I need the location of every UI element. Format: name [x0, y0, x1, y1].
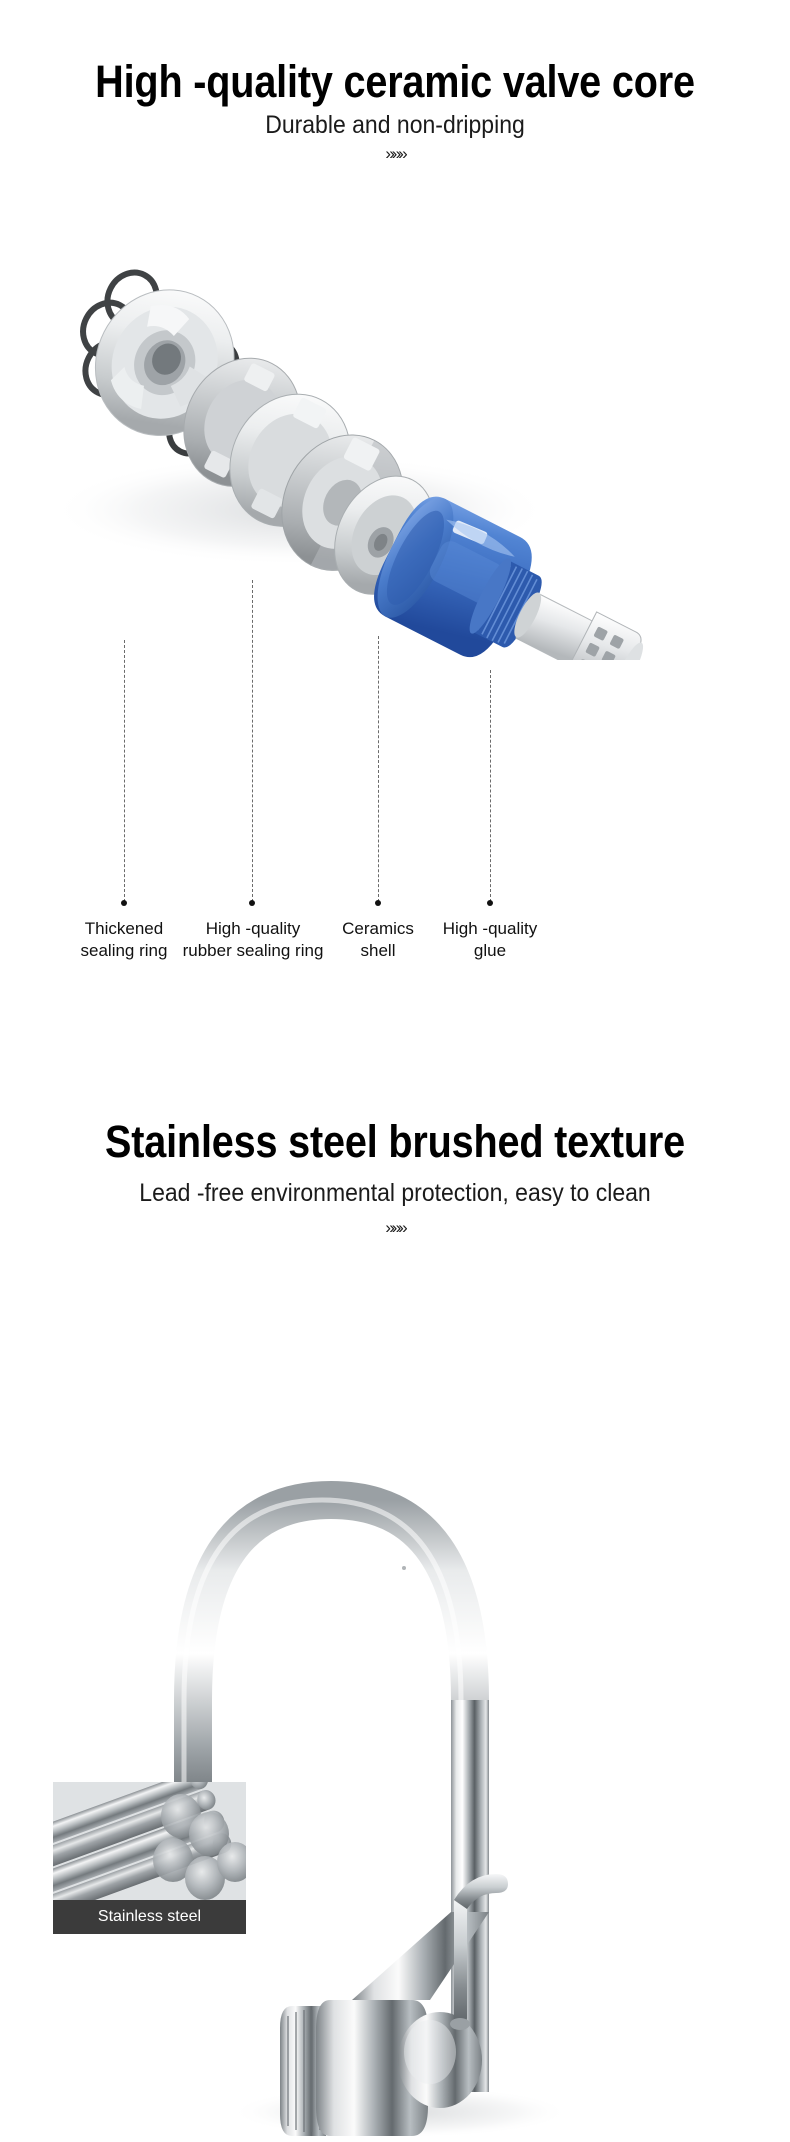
spout-seam-mark — [402, 1566, 406, 1570]
callout-line-1: High -quality — [162, 918, 344, 940]
leader-line-2 — [252, 580, 253, 902]
callout-line-2: rubber sealing ring — [162, 940, 344, 962]
leader-line-1 — [124, 640, 125, 902]
callout-label-rubber-sealing-ring: High -quality rubber sealing ring — [162, 918, 344, 962]
leader-line-4 — [490, 670, 491, 902]
inset-caption-stainless-steel: Stainless steel — [53, 1900, 246, 1934]
page-title-stainless-steel: Stainless steel brushed texture — [47, 1118, 742, 1165]
product-detail-page: High -quality ceramic valve core Durable… — [0, 0, 790, 2142]
callout-line-1: High -quality — [418, 918, 562, 940]
leader-line-3 — [378, 636, 379, 902]
page-title-valve-core: High -quality ceramic valve core — [47, 58, 742, 105]
leader-dot-1 — [121, 900, 127, 906]
subtitle-valve-core: Durable and non-dripping — [32, 112, 759, 140]
chevron-ornament-icon: »»» — [0, 144, 790, 164]
callout-line-2: glue — [418, 940, 562, 962]
exploded-valve-core-figure — [0, 180, 790, 660]
stainless-steel-rods-photo — [53, 1782, 246, 1900]
stainless-steel-inset: Stainless steel — [53, 1782, 246, 1934]
callout-label-high-quality-glue: High -quality glue — [418, 918, 562, 962]
leader-dot-3 — [375, 900, 381, 906]
valve-core-assembly — [27, 256, 696, 660]
chevron-ornament-icon: »»» — [0, 1218, 790, 1238]
subtitle-stainless-steel: Lead -free environmental protection, eas… — [32, 1180, 759, 1208]
leader-dot-4 — [487, 900, 493, 906]
kitchen-faucet-figure — [0, 1300, 790, 2142]
leader-dot-2 — [249, 900, 255, 906]
